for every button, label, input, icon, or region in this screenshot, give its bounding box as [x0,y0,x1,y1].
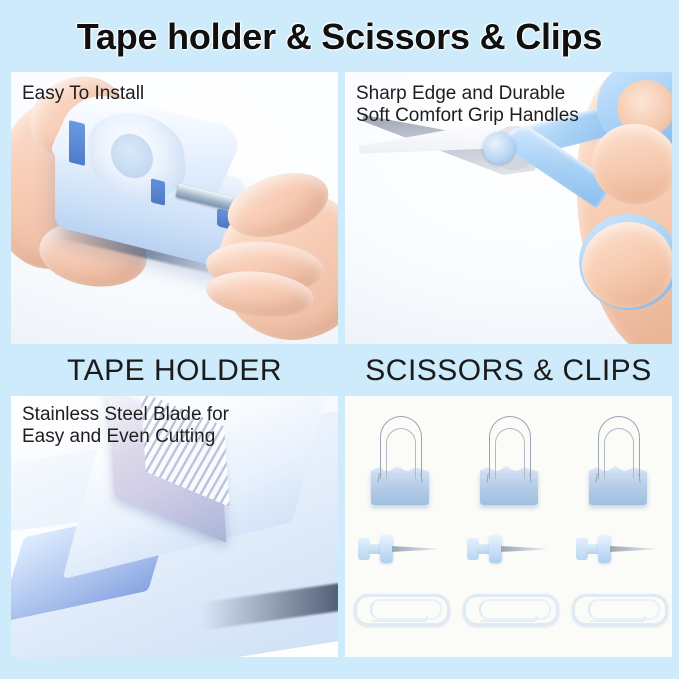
push-pin-needle [392,546,438,552]
dispenser-accent-mid [151,178,165,205]
binder-clip-wire-handle-inner [495,428,525,479]
binder-clip-wire-handle-inner [386,428,416,479]
binder-clip-wire-foot-right [414,474,422,484]
binder-clip-wire-foot-left [486,474,494,484]
label-tape-holder: TAPE HOLDER [11,348,338,394]
binder-clip [369,417,431,509]
push-pin-needle [610,546,656,552]
caption-sharp-edge: Sharp Edge and Durable Soft Comfort Grip… [356,83,579,127]
binder-clip [478,417,540,509]
tape-dispenser-scene [11,72,338,344]
binder-clip [587,417,649,509]
label-scissors-and-clips: SCISSORS & CLIPS [345,348,672,394]
binder-clip-row [345,408,672,518]
push-pin [467,532,551,566]
push-pin [576,532,660,566]
push-pin-collar [598,535,611,563]
push-pin-collar [489,535,502,563]
paper-clip-row [345,582,672,634]
push-pin-row [345,524,672,574]
page-title: Tape holder & Scissors & Clips [0,16,679,58]
paper-clip [572,593,664,623]
binder-clip-wire-foot-right [523,474,531,484]
panel-clips-assortment [345,396,672,657]
product-infographic: Tape holder & Scissors & Clips Easy To I… [0,0,679,679]
paper-clip-tail [481,616,537,622]
scissors-pivot-screw [483,132,515,164]
binder-clip-wire-foot-right [632,474,640,484]
paper-clip [463,593,555,623]
caption-stainless-steel-blade: Stainless Steel Blade for Easy and Even … [22,404,229,448]
paper-clip [354,593,446,623]
push-pin-collar [380,535,393,563]
binder-clip-wire-foot-left [377,474,385,484]
binder-clip-wire-foot-left [595,474,603,484]
dispenser-accent-left [69,120,85,166]
push-pin [358,532,442,566]
binder-clip-wire-handle-inner [604,428,634,479]
paper-clip-tail [372,616,428,622]
push-pin-needle [501,546,547,552]
caption-easy-to-install: Easy To Install [22,83,144,105]
paper-clip-tail [590,616,646,622]
panel-tape-holder-photo [11,72,338,344]
